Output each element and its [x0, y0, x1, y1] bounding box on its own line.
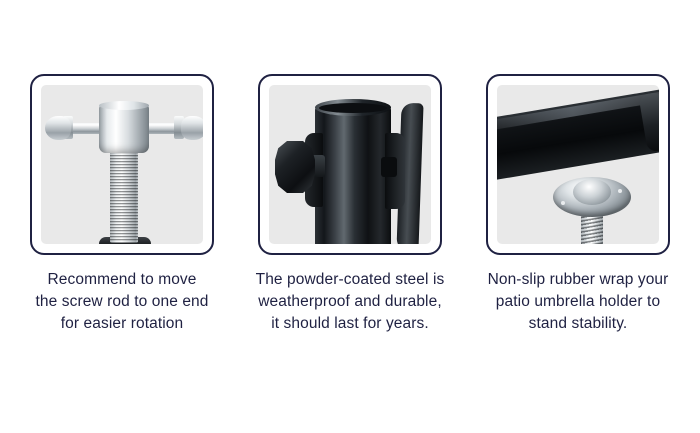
product-photo-2 [269, 85, 431, 244]
feature-item-powder-coated-steel: The powder-coated steel is weatherproof … [258, 74, 442, 360]
product-photo-card-1 [30, 74, 214, 255]
product-photo-3 [497, 85, 659, 244]
feature-caption-2: The powder-coated steel is weatherproof … [234, 269, 466, 335]
flange-dome-shape [573, 179, 611, 205]
flange-hole-left-shape [561, 201, 565, 205]
feature-item-screw-rod: Recommend to move the screw rod to one e… [30, 74, 214, 360]
product-photo-1 [41, 85, 203, 244]
bolt-right-shape [381, 157, 397, 177]
tightening-knob-shape [275, 141, 315, 193]
handle-cap-right-shape [181, 116, 203, 140]
threaded-shaft-shape [110, 149, 138, 243]
feature-item-non-slip-rubber: Non-slip rubber wrap your patio umbrella… [486, 74, 670, 360]
handle-cap-left-shape [45, 116, 71, 140]
flange-hole-right-shape [618, 189, 622, 193]
product-photo-card-3 [486, 74, 670, 255]
feature-caption-1: Recommend to move the screw rod to one e… [6, 269, 238, 335]
tube-opening-shape [319, 103, 387, 113]
steel-tube-shape [315, 107, 391, 244]
product-photo-card-2 [258, 74, 442, 255]
feature-caption-3: Non-slip rubber wrap your patio umbrella… [462, 269, 694, 335]
collar-shape [99, 103, 149, 153]
feature-row: Recommend to move the screw rod to one e… [0, 0, 700, 360]
